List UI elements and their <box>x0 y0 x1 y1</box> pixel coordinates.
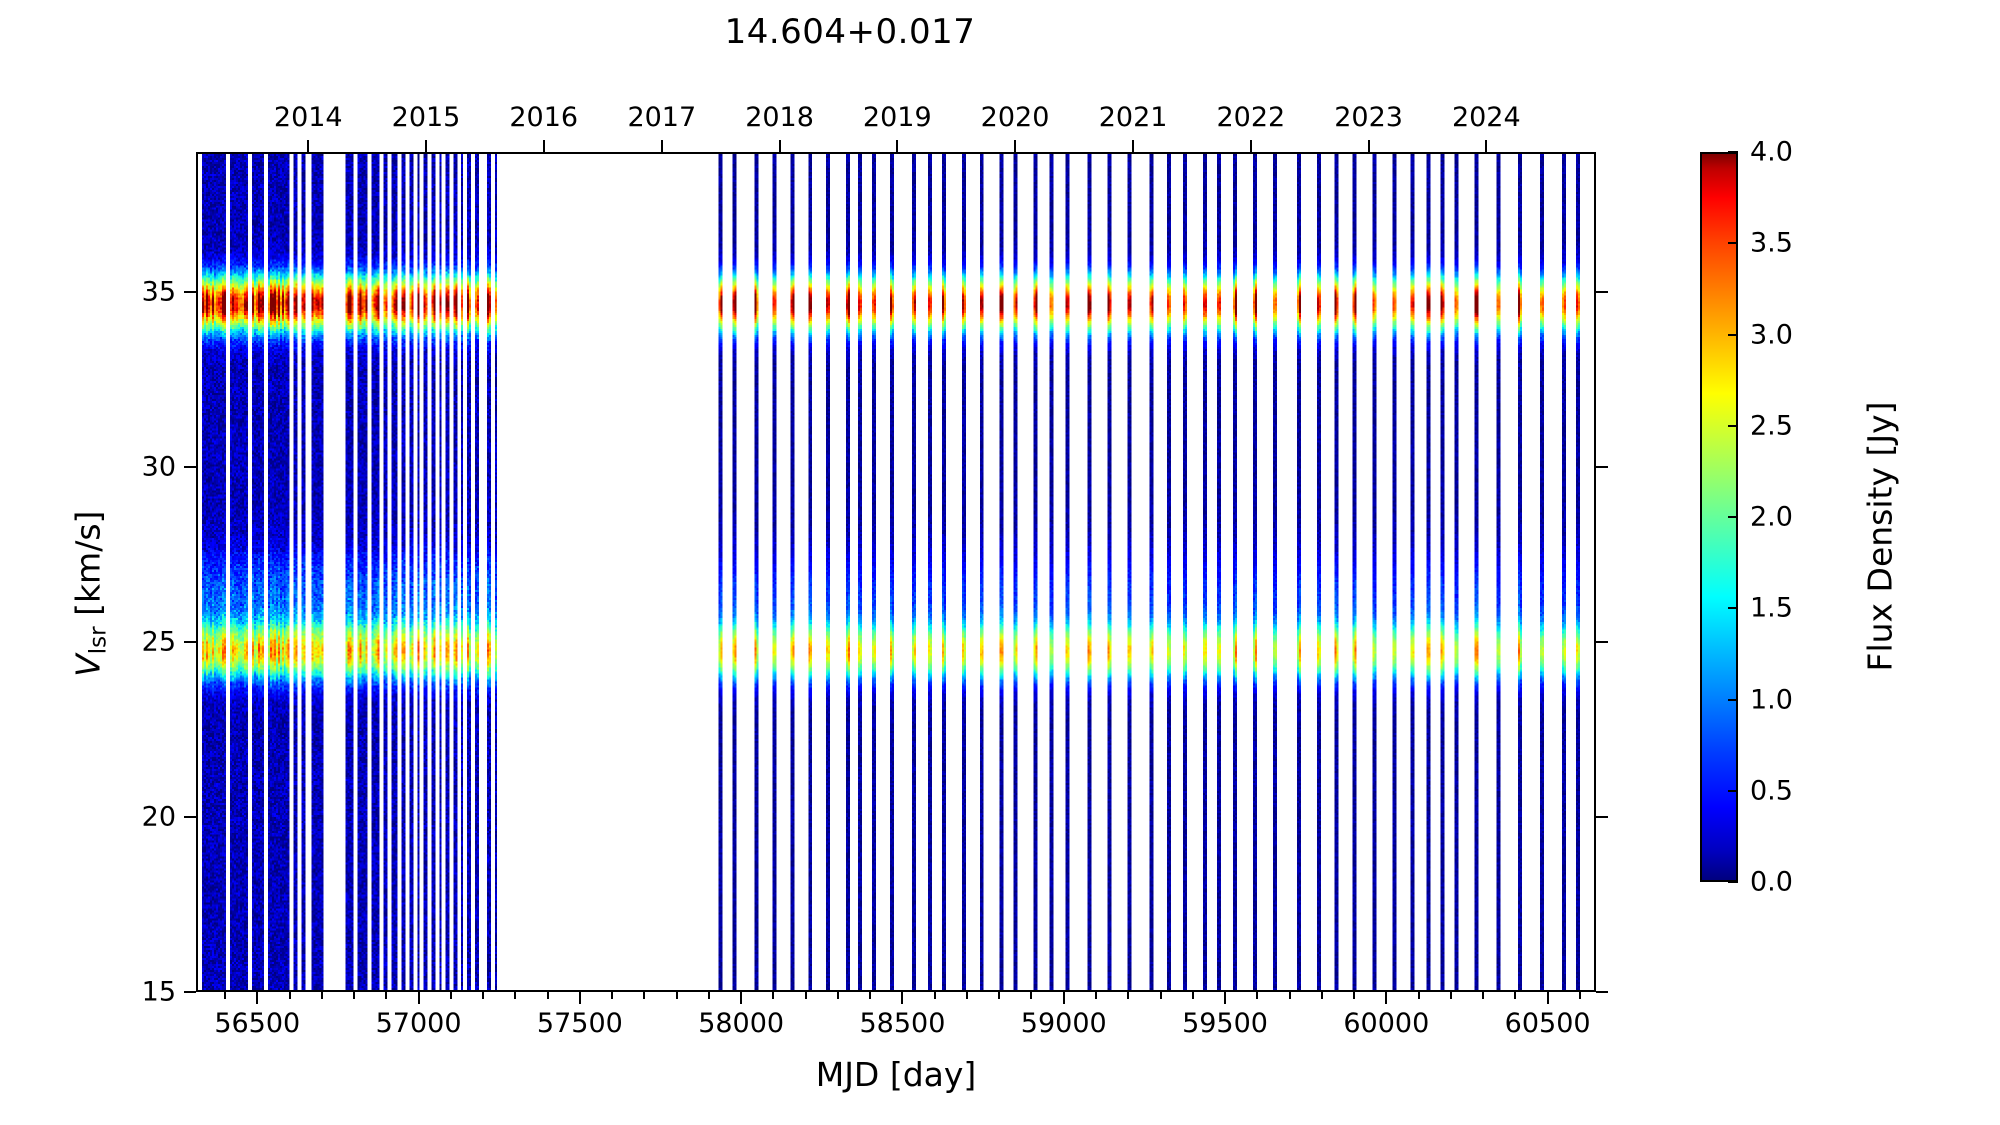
colorbar-tick-label: 3.0 <box>1750 319 1793 350</box>
colorbar-tick <box>1728 790 1738 792</box>
colorbar-tick <box>1728 699 1738 701</box>
page-title: 14.604+0.017 <box>0 12 1700 52</box>
x-tick-minor <box>1418 992 1420 999</box>
x-tick-minor <box>289 992 291 999</box>
top-tick-major <box>1368 140 1370 152</box>
colorbar-tick-label: 1.0 <box>1750 684 1793 715</box>
top-tick-major <box>1250 140 1252 152</box>
x-tick-minor <box>385 992 387 999</box>
colorbar-tick-label: 4.0 <box>1750 137 1793 168</box>
colorbar-tick <box>1728 881 1738 883</box>
year-tick-label: 2016 <box>509 102 578 133</box>
x-tick-minor <box>998 992 1000 999</box>
x-tick-minor <box>643 992 645 999</box>
y-axis-title: Vlsr [km/s] <box>68 244 111 944</box>
x-tick-minor <box>1482 992 1484 999</box>
x-tick-minor <box>1579 992 1581 999</box>
x-tick-minor <box>1095 992 1097 999</box>
x-tick-label: 60000 <box>1343 1008 1429 1039</box>
x-tick-label: 59000 <box>1021 1008 1107 1039</box>
colorbar-tick-label: 3.5 <box>1750 228 1793 259</box>
year-tick-label: 2023 <box>1334 102 1403 133</box>
x-tick-minor <box>547 992 549 999</box>
x-tick-minor <box>1321 992 1323 999</box>
x-tick-minor <box>611 992 613 999</box>
top-tick-major <box>1014 140 1016 152</box>
colorbar-tick-label: 2.0 <box>1750 502 1793 533</box>
x-tick-minor <box>869 992 871 999</box>
colorbar-tick <box>1728 425 1738 427</box>
colorbar-tick <box>1728 516 1738 518</box>
y-tick-major <box>184 291 196 293</box>
colorbar-title: Flux Density [Jy] <box>1861 187 1900 887</box>
year-tick-label: 2018 <box>745 102 814 133</box>
x-tick-minor <box>805 992 807 999</box>
x-tick-major <box>901 992 903 1004</box>
top-tick-major <box>425 140 427 152</box>
year-tick-label: 2019 <box>863 102 932 133</box>
top-tick-major <box>307 140 309 152</box>
colorbar-tick-label: 1.5 <box>1750 593 1793 624</box>
top-tick-major <box>661 140 663 152</box>
x-tick-major <box>579 992 581 1004</box>
colorbar-tick <box>1728 242 1738 244</box>
x-axis-title: MJD [day] <box>196 1055 1596 1094</box>
top-tick-major <box>1485 140 1487 152</box>
x-tick-minor <box>514 992 516 999</box>
x-tick-minor <box>1127 992 1129 999</box>
y-tick-major-right <box>1596 991 1608 993</box>
year-tick-label: 2015 <box>392 102 461 133</box>
dynamic-spectrum-image <box>198 154 1594 990</box>
x-tick-minor <box>1256 992 1258 999</box>
x-tick-minor <box>1030 992 1032 999</box>
x-tick-major <box>1063 992 1065 1004</box>
colorbar-tick <box>1728 151 1738 153</box>
colorbar-tick-label: 0.0 <box>1750 867 1793 898</box>
x-tick-minor <box>353 992 355 999</box>
x-tick-minor <box>1353 992 1355 999</box>
x-tick-major <box>1547 992 1549 1004</box>
heatmap-canvas-wrap <box>198 154 1594 990</box>
y-tick-major <box>184 991 196 993</box>
figure-dynamic-spectrum: 14.604+0.017 565005700057500580005850059… <box>0 0 2000 1125</box>
x-tick-minor <box>966 992 968 999</box>
x-tick-label: 58500 <box>859 1008 945 1039</box>
year-tick-label: 2020 <box>981 102 1050 133</box>
colorbar-tick <box>1728 607 1738 609</box>
x-tick-minor <box>1450 992 1452 999</box>
x-tick-minor <box>837 992 839 999</box>
year-tick-label: 2017 <box>627 102 696 133</box>
x-tick-label: 57000 <box>376 1008 462 1039</box>
x-tick-minor <box>482 992 484 999</box>
top-tick-major <box>896 140 898 152</box>
x-tick-label: 56500 <box>214 1008 300 1039</box>
x-tick-major <box>1224 992 1226 1004</box>
top-tick-major <box>779 140 781 152</box>
plot-area[interactable] <box>196 152 1596 992</box>
x-tick-major <box>740 992 742 1004</box>
y-tick-label: 15 <box>76 977 176 1008</box>
colorbar-tick-label: 2.5 <box>1750 410 1793 441</box>
y-tick-major-right <box>1596 291 1608 293</box>
x-tick-label: 59500 <box>1182 1008 1268 1039</box>
x-tick-minor <box>450 992 452 999</box>
top-tick-major <box>543 140 545 152</box>
x-tick-minor <box>676 992 678 999</box>
x-tick-label: 60500 <box>1505 1008 1591 1039</box>
x-tick-label: 57500 <box>537 1008 623 1039</box>
colorbar-tick-label: 0.5 <box>1750 775 1793 806</box>
x-tick-minor <box>708 992 710 999</box>
x-tick-major <box>256 992 258 1004</box>
year-tick-label: 2022 <box>1216 102 1285 133</box>
x-tick-minor <box>321 992 323 999</box>
x-tick-minor <box>1514 992 1516 999</box>
y-tick-major <box>184 641 196 643</box>
top-tick-major <box>1132 140 1134 152</box>
year-tick-label: 2021 <box>1099 102 1168 133</box>
y-tick-major-right <box>1596 641 1608 643</box>
x-tick-major <box>418 992 420 1004</box>
x-tick-minor <box>1289 992 1291 999</box>
x-tick-minor <box>224 992 226 999</box>
x-tick-minor <box>934 992 936 999</box>
y-tick-major <box>184 816 196 818</box>
x-tick-minor <box>1192 992 1194 999</box>
y-tick-major-right <box>1596 816 1608 818</box>
x-tick-major <box>1385 992 1387 1004</box>
year-tick-label: 2024 <box>1452 102 1521 133</box>
y-tick-major-right <box>1596 466 1608 468</box>
colorbar-tick <box>1728 334 1738 336</box>
x-tick-minor <box>772 992 774 999</box>
x-tick-minor <box>1160 992 1162 999</box>
y-tick-major <box>184 466 196 468</box>
x-tick-label: 58000 <box>698 1008 784 1039</box>
year-tick-label: 2014 <box>274 102 343 133</box>
